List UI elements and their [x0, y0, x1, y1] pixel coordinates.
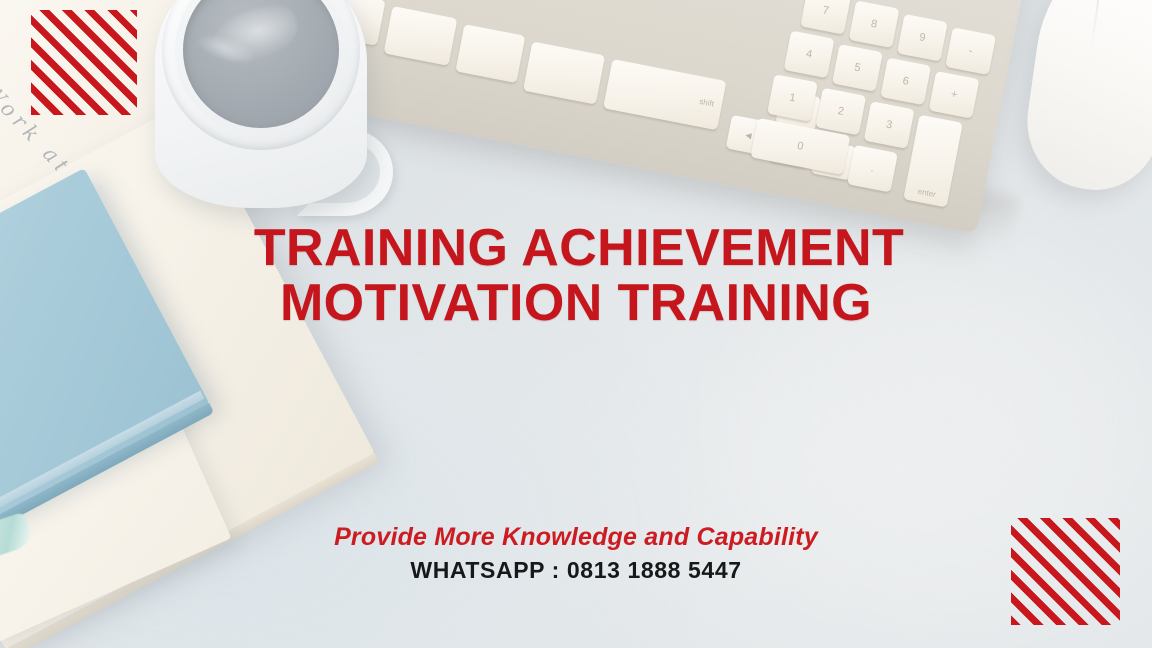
headline-line-1: TRAINING ACHIEVEMENT: [6, 221, 1152, 276]
tagline: Provide More Knowledge and Capability: [0, 523, 1152, 552]
text-layer: TRAINING ACHIEVEMENT MOTIVATION TRAINING…: [0, 0, 1152, 648]
banner-canvas: Work at Home shift ◀: [0, 0, 1152, 648]
headline-line-2: MOTIVATION TRAINING: [0, 276, 1152, 331]
whatsapp-contact: WHATSAPP : 0813 1888 5447: [0, 557, 1152, 584]
page-title: TRAINING ACHIEVEMENT MOTIVATION TRAINING: [0, 221, 1152, 331]
